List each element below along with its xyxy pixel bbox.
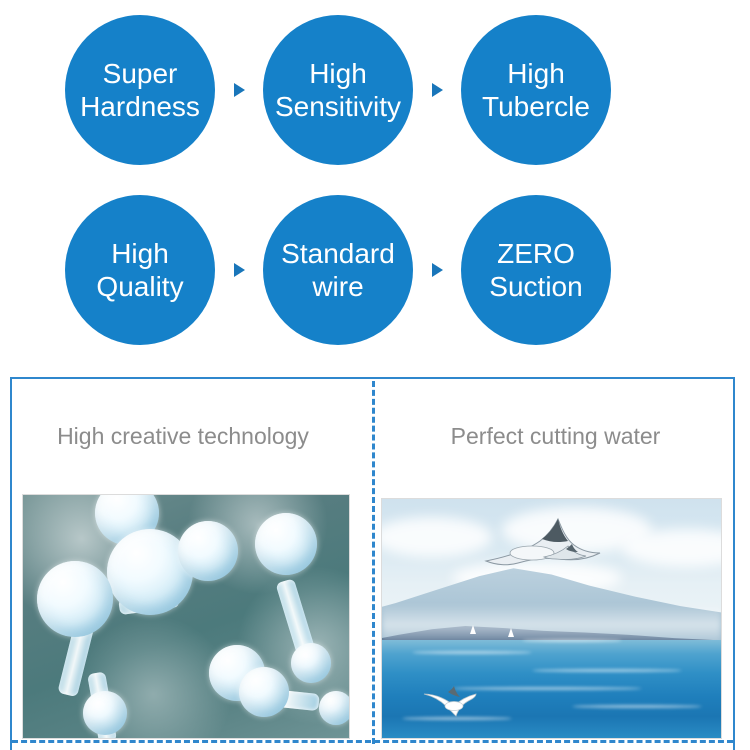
flow-node-label-line-1: ZERO [497, 237, 575, 270]
flow-node-zero-suction[interactable]: ZERO Suction [461, 195, 611, 345]
sailboat [470, 625, 476, 634]
water-reflection [412, 651, 532, 654]
flow-node-label-line-2: Suction [489, 270, 582, 303]
molecule-sphere [83, 691, 127, 735]
column-divider-dashed [372, 381, 375, 744]
feature-flow-section: Super Hardness High Sensitivity High Tub… [0, 0, 750, 360]
flow-node-label-line-1: High [507, 57, 565, 90]
molecule-sphere [37, 561, 113, 637]
flow-row-1: Super Hardness High Sensitivity High Tub… [0, 0, 750, 180]
row-left-spacer [0, 270, 65, 271]
molecule-sphere [255, 513, 317, 575]
water-reflection [572, 705, 702, 708]
flow-node-standard-wire[interactable]: Standard wire [263, 195, 413, 345]
molecule-sphere [291, 643, 331, 683]
triangle-right-icon [215, 15, 263, 165]
photo-water-molecule [22, 494, 350, 739]
flow-node-super-hardness[interactable]: Super Hardness [65, 15, 215, 165]
atmospheric-haze [382, 604, 721, 642]
bottom-divider-dashed [12, 740, 733, 743]
showcase-column-left: High creative technology [12, 379, 372, 750]
seagull-small [422, 684, 478, 718]
row-left-spacer [0, 90, 65, 91]
sailboat [508, 628, 514, 637]
flow-node-label-line-2: wire [312, 270, 363, 303]
sea-scene [382, 499, 721, 738]
molecule-sphere [178, 521, 238, 581]
flow-node-high-tubercle[interactable]: High Tubercle [461, 15, 611, 165]
molecule-sphere [239, 667, 289, 717]
flow-node-label-line-2: Tubercle [482, 90, 590, 123]
flow-node-label-line-2: Quality [96, 270, 183, 303]
flow-node-label-line-1: High [111, 237, 169, 270]
photo-sea-landscape [381, 498, 722, 739]
flow-node-label-line-1: High [309, 57, 367, 90]
triangle-right-icon [413, 195, 461, 345]
flow-node-high-quality[interactable]: High Quality [65, 195, 215, 345]
flow-row-2: High Quality Standard wire ZERO Suction [0, 180, 750, 360]
water-reflection [522, 639, 622, 642]
flow-node-label-line-1: Standard [281, 237, 395, 270]
flow-node-label-line-2: Sensitivity [275, 90, 401, 123]
molecule-sphere [319, 691, 350, 725]
showcase-panel: High creative technology [10, 377, 735, 750]
water-reflection [532, 669, 682, 672]
showcase-caption-left: High creative technology [12, 423, 372, 449]
showcase-column-right: Perfect cutting water [374, 379, 733, 750]
showcase-caption-right: Perfect cutting water [374, 423, 733, 449]
flow-node-high-sensitivity[interactable]: High Sensitivity [263, 15, 413, 165]
flow-node-label-line-2: Hardness [80, 90, 200, 123]
triangle-right-icon [413, 15, 461, 165]
flow-node-label-line-1: Super [103, 57, 178, 90]
seagull-medium [542, 543, 588, 565]
triangle-right-icon [215, 195, 263, 345]
water-reflection [452, 687, 642, 690]
